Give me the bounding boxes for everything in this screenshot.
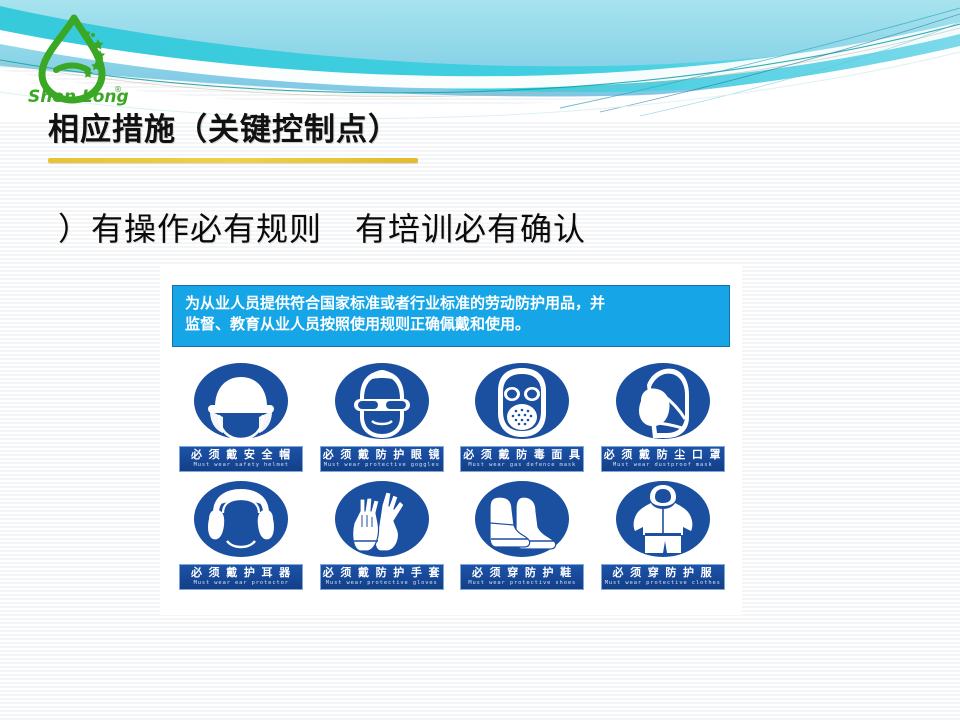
ppe-sign-protective-gloves: 必 须 戴 防 护 手 套 Must wear protective glove… — [315, 479, 450, 597]
ppe-sign-label: 必 须 穿 防 护 服 Must wear protective clothes — [601, 564, 725, 590]
title-underline-rule — [48, 158, 418, 163]
ppe-label-en: Must wear protective gloves — [323, 579, 441, 586]
ppe-sign-protective-shoes: 必 须 穿 防 护 鞋 Must wear protective shoes — [455, 479, 590, 597]
ppe-label-en: Must wear protective goggles — [323, 461, 441, 468]
ppe-sign-label: 必 须 穿 防 护 鞋 Must wear protective shoes — [460, 564, 584, 590]
ppe-label-cn: 必 须 戴 防 护 手 套 — [323, 567, 441, 580]
ppe-label-en: Must wear ear protector — [182, 579, 300, 586]
protective-shoes-icon — [460, 479, 584, 563]
protective-gloves-icon — [320, 479, 444, 563]
ppe-sign-gas-defence-mask: 必 须 戴 防 毒 面 具 Must wear gas defence mask — [455, 361, 590, 479]
protective-goggles-icon — [320, 361, 444, 445]
ppe-label-en: Must wear safety helmet — [182, 461, 300, 468]
notice-banner: 为从业人员提供符合国家标准或者行业标准的劳动防护用品，并 监督、教育从业人员按照… — [172, 285, 730, 347]
ppe-sign-dustproof-mask: 必 须 戴 防 尘 口 罩 Must wear dustproof mask — [596, 361, 731, 479]
ppe-label-cn: 必 须 戴 防 护 眼 镜 — [323, 449, 441, 462]
ppe-sign-label: 必 须 戴 防 护 眼 镜 Must wear protective goggl… — [320, 446, 444, 472]
ppe-sign-label: 必 须 戴 防 毒 面 具 Must wear gas defence mask — [460, 446, 584, 472]
ppe-label-en: Must wear gas defence mask — [463, 461, 581, 468]
logo-wordmark: Shen Long — [28, 87, 128, 107]
ppe-label-cn: 必 须 戴 安 全 帽 — [182, 449, 300, 462]
header-decorative-band — [0, 0, 960, 120]
notice-text: 为从业人员提供符合国家标准或者行业标准的劳动防护用品，并 监督、教育从业人员按照… — [185, 293, 719, 336]
ear-protector-icon — [179, 479, 303, 563]
page-title: 相应措施（关键控制点） — [48, 112, 748, 149]
ppe-label-en: Must wear dustproof mask — [604, 461, 722, 468]
ppe-sign-protective-goggles: 必 须 戴 防 护 眼 镜 Must wear protective goggl… — [315, 361, 450, 479]
title-block: 相应措施（关键控制点） — [48, 112, 748, 163]
ppe-sign-label: 必 须 戴 护 耳 器 Must wear ear protector — [179, 564, 303, 590]
ppe-sign-safety-helmet: 必 须 戴 安 全 帽 Must wear safety helmet — [174, 361, 309, 479]
ppe-label-en: Must wear protective shoes — [463, 579, 581, 586]
ppe-sign-label: 必 须 戴 防 护 手 套 Must wear protective glove… — [320, 564, 444, 590]
ppe-label-cn: 必 须 戴 护 耳 器 — [182, 567, 300, 580]
ppe-label-cn: 必 须 戴 防 毒 面 具 — [463, 449, 581, 462]
shen-long-logo: Shen Long ® — [22, 12, 128, 108]
ppe-sign-grid: 必 须 戴 安 全 帽 Must wear safety helmet — [174, 361, 730, 597]
presentation-slide: Shen Long ® 相应措施（关键控制点） ）有操作必有规则 有培训必有确认… — [0, 0, 960, 720]
body-heading-line: ）有操作必有规则 有培训必有确认 — [58, 204, 586, 250]
ppe-label-en: Must wear protective clothes — [604, 579, 722, 586]
ppe-poster-image: 为从业人员提供符合国家标准或者行业标准的劳动防护用品，并 监督、教育从业人员按照… — [160, 265, 742, 615]
ppe-label-cn: 必 须 穿 防 护 服 — [604, 567, 722, 580]
protective-clothes-icon — [601, 479, 725, 563]
ppe-label-cn: 必 须 戴 防 尘 口 罩 — [604, 449, 722, 462]
ppe-label-cn: 必 须 穿 防 护 鞋 — [463, 567, 581, 580]
dustproof-mask-icon — [601, 361, 725, 445]
safety-helmet-icon — [179, 361, 303, 445]
logo-registered-mark: ® — [114, 85, 122, 94]
ppe-sign-ear-protector: 必 须 戴 护 耳 器 Must wear ear protector — [174, 479, 309, 597]
ppe-sign-label: 必 须 戴 防 尘 口 罩 Must wear dustproof mask — [601, 446, 725, 472]
ppe-sign-label: 必 须 戴 安 全 帽 Must wear safety helmet — [179, 446, 303, 472]
gas-defence-mask-icon — [460, 361, 584, 445]
ppe-sign-protective-clothes: 必 须 穿 防 护 服 Must wear protective clothes — [596, 479, 731, 597]
